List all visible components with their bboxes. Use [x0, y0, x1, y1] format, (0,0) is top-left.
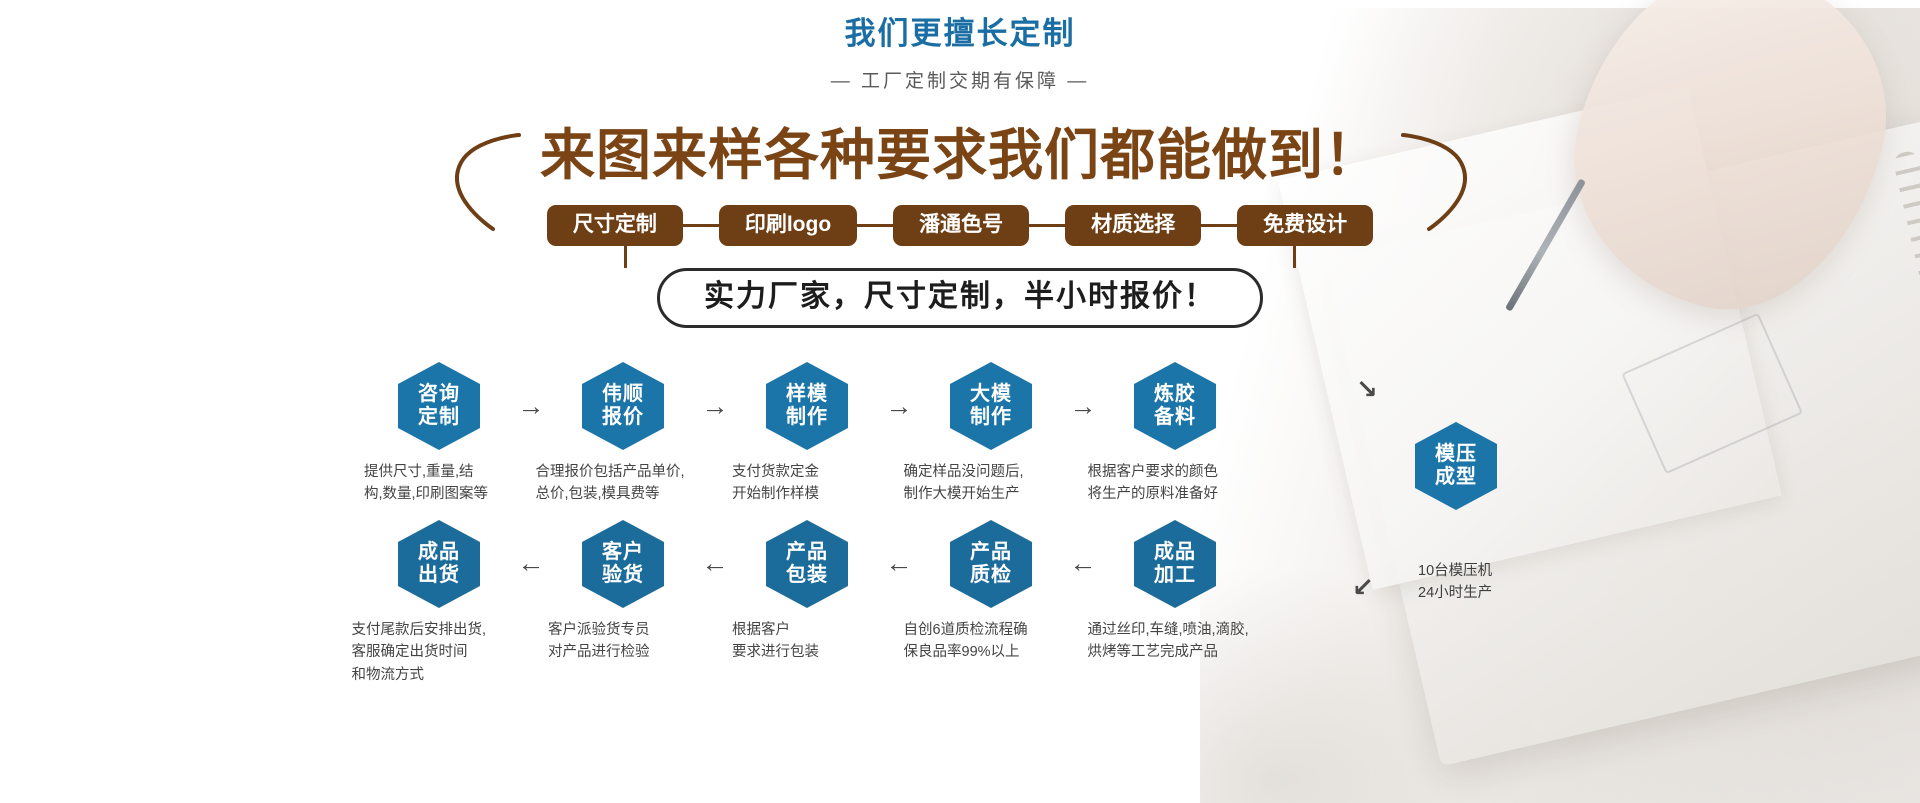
step-label-line2: 出货 — [418, 564, 460, 587]
step-quality-check[interactable]: 产品 质检 自创6道质检流程确 保良品率99%以上 — [930, 520, 1052, 664]
step-label-line1: 产品 — [786, 541, 828, 564]
tag-connector — [1201, 224, 1237, 227]
hexagon-wrap: 样模 制作 — [766, 362, 848, 450]
step-description: 客户派验货专员 对产品进行检验 — [548, 619, 698, 664]
hexagon-wrap: 大模 制作 — [950, 362, 1032, 450]
hexagon-shape: 大模 制作 — [950, 362, 1032, 450]
slogan-text: 实力厂家，尺寸定制，半小时报价！ — [657, 268, 1263, 328]
hexagon-shape: 成品 加工 — [1134, 520, 1216, 608]
step-finishing-process[interactable]: 成品 加工 通过丝印,车缝,喷油,滴胶, 烘烤等工艺完成产品 — [1114, 520, 1236, 664]
step-description: 根据客户 要求进行包装 — [732, 619, 882, 664]
step-label-line2: 制作 — [970, 406, 1012, 429]
slogan-stem-right — [1293, 246, 1296, 268]
tag-connector — [683, 224, 719, 227]
step-description: 支付尾款后安排出货, 客服确定出货时间 和物流方式 — [352, 619, 527, 686]
hexagon-wrap: 伟顺 报价 — [582, 362, 664, 450]
step-label-line2: 制作 — [786, 406, 828, 429]
step-label-line2: 包装 — [786, 564, 828, 587]
step-label-line1: 客户 — [602, 541, 644, 564]
arrow-left-icon: ← — [684, 520, 746, 608]
page-title: 我们更擅长定制 — [0, 8, 1920, 53]
step-label-line2: 验货 — [602, 564, 644, 587]
arrow-down-left-icon: ↙ — [1352, 572, 1374, 603]
arrow-right-icon: → — [684, 362, 746, 450]
hexagon-wrap: 炼胶 备料 — [1134, 362, 1216, 450]
hexagon-shape: 伟顺 报价 — [582, 362, 664, 450]
arrow-left-icon: ← — [500, 520, 562, 608]
tag-connector — [857, 224, 893, 227]
step-label-line2: 成型 — [1435, 466, 1477, 489]
step-consult-custom[interactable]: 咨询 定制 提供尺寸,重量,结 构,数量,印刷图案等 — [378, 362, 500, 506]
step-description: 合理报价包括产品单价, 总价,包装,模具费等 — [536, 461, 711, 506]
tag-material-choice[interactable]: 材质选择 — [1065, 205, 1201, 246]
hexagon-wrap: 成品 出货 — [398, 520, 480, 608]
tag-pantone-color[interactable]: 潘通色号 — [893, 205, 1029, 246]
arrow-right-icon: → — [868, 362, 930, 450]
step-molding[interactable]: 模压 成型 — [1415, 422, 1675, 510]
step-label-line1: 样模 — [786, 383, 828, 406]
step-label-line2: 报价 — [602, 406, 644, 429]
headline-block: 来图来样各种要求我们都能做到！ — [455, 119, 1465, 191]
step-label-line1: 炼胶 — [1154, 383, 1196, 406]
tag-print-logo[interactable]: 印刷logo — [719, 205, 857, 246]
arrow-right-icon: → — [500, 362, 562, 450]
arrow-right-icon: → — [1052, 362, 1114, 450]
step-label-line2: 质检 — [970, 564, 1012, 587]
step-label-line2: 加工 — [1154, 564, 1196, 587]
step-sample-mold[interactable]: 样模 制作 支付货款定金 开始制作样模 — [746, 362, 868, 506]
header: 我们更擅长定制 — 工厂定制交期有保障 — — [0, 8, 1920, 93]
step-label-line1: 大模 — [970, 383, 1012, 406]
step-label-line1: 成品 — [1154, 541, 1196, 564]
tag-connector — [1029, 224, 1065, 227]
arrow-left-icon: ← — [1052, 520, 1114, 608]
hexagon-wrap: 模压 成型 — [1415, 422, 1675, 510]
molding-caption: 10台模压机 24小时生产 — [1418, 560, 1492, 605]
tag-size-custom[interactable]: 尺寸定制 — [547, 205, 683, 246]
step-label-line2: 备料 — [1154, 406, 1196, 429]
slogan-stem-left — [624, 246, 627, 268]
process-flow: 咨询 定制 提供尺寸,重量,结 构,数量,印刷图案等 → 伟顺 报价 合理报价包… — [0, 362, 1920, 686]
hexagon-shape: 样模 制作 — [766, 362, 848, 450]
step-label-line1: 成品 — [418, 541, 460, 564]
hexagon-shape: 成品 出货 — [398, 520, 480, 608]
hexagon-wrap: 成品 加工 — [1134, 520, 1216, 608]
arrow-left-icon: ← — [868, 520, 930, 608]
step-finished-shipment[interactable]: 成品 出货 支付尾款后安排出货, 客服确定出货时间 和物流方式 — [378, 520, 500, 686]
tag-row: 尺寸定制 印刷logo 潘通色号 材质选择 免费设计 — [0, 205, 1920, 246]
hexagon-wrap: 咨询 定制 — [398, 362, 480, 450]
hexagon-shape: 模压 成型 — [1415, 422, 1497, 510]
hexagon-wrap: 产品 质检 — [950, 520, 1032, 608]
step-description: 根据客户要求的颜色 将生产的原料准备好 — [1088, 461, 1263, 506]
arrow-down-right-icon: ↘ — [1356, 374, 1378, 405]
step-label-line2: 定制 — [418, 406, 460, 429]
step-product-packaging[interactable]: 产品 包装 根据客户 要求进行包装 — [746, 520, 868, 664]
hexagon-shape: 炼胶 备料 — [1134, 362, 1216, 450]
step-customer-inspection[interactable]: 客户 验货 客户派验货专员 对产品进行检验 — [562, 520, 684, 664]
step-rubber-prep[interactable]: 炼胶 备料 根据客户要求的颜色 将生产的原料准备好 — [1114, 362, 1236, 506]
headline-text: 来图来样各种要求我们都能做到！ — [455, 119, 1465, 191]
hexagon-shape: 产品 包装 — [766, 520, 848, 608]
tag-free-design[interactable]: 免费设计 — [1237, 205, 1373, 246]
step-description: 通过丝印,车缝,喷油,滴胶, 烘烤等工艺完成产品 — [1088, 619, 1263, 664]
step-label-line1: 伟顺 — [602, 383, 644, 406]
step-description: 确定样品没问题后, 制作大模开始生产 — [904, 461, 1079, 506]
slogan-block: 实力厂家，尺寸定制，半小时报价！ — [0, 268, 1920, 328]
hexagon-wrap: 产品 包装 — [766, 520, 848, 608]
hexagon-shape: 咨询 定制 — [398, 362, 480, 450]
hexagon-shape: 产品 质检 — [950, 520, 1032, 608]
step-description: 自创6道质检流程确 保良品率99%以上 — [904, 619, 1079, 664]
page-subtitle: — 工厂定制交期有保障 — — [0, 66, 1920, 93]
step-weishun-quote[interactable]: 伟顺 报价 合理报价包括产品单价, 总价,包装,模具费等 — [562, 362, 684, 506]
step-label-line1: 模压 — [1435, 443, 1477, 466]
step-description: 提供尺寸,重量,结 构,数量,印刷图案等 — [364, 461, 514, 506]
step-description: 支付货款定金 开始制作样模 — [732, 461, 882, 506]
hexagon-wrap: 客户 验货 — [582, 520, 664, 608]
hexagon-shape: 客户 验货 — [582, 520, 664, 608]
process-row-2: 成品 出货 支付尾款后安排出货, 客服确定出货时间 和物流方式 ← 客户 验货 … — [0, 520, 1920, 686]
step-label-line1: 咨询 — [418, 383, 460, 406]
step-big-mold[interactable]: 大模 制作 确定样品没问题后, 制作大模开始生产 — [930, 362, 1052, 506]
step-label-line1: 产品 — [970, 541, 1012, 564]
